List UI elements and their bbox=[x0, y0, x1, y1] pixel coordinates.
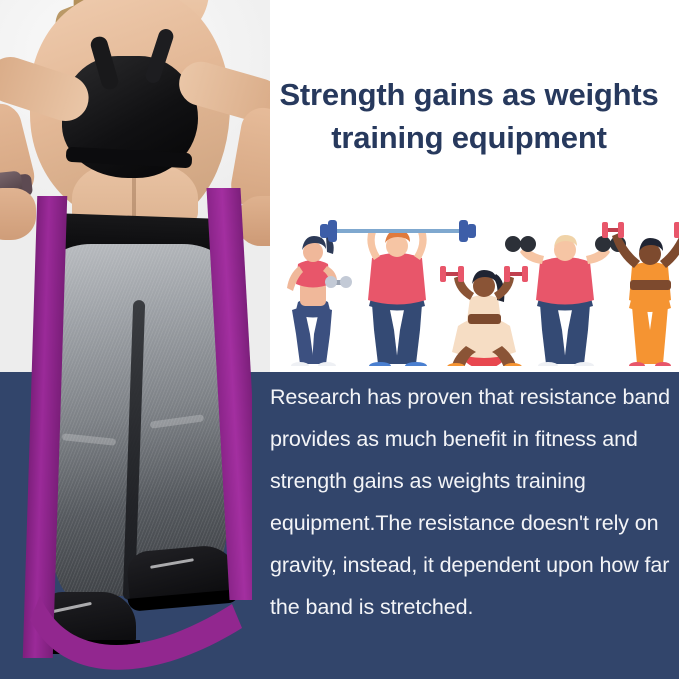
resistance-band-under-foot bbox=[0, 560, 270, 679]
figure-1-woman-dumbbell bbox=[287, 236, 352, 370]
figure-3-woman-exercise-ball bbox=[440, 266, 528, 371]
figure-4-man-dumbbells bbox=[505, 235, 626, 370]
figure-2-man-barbell bbox=[320, 220, 476, 370]
description-text: Research has proven that resistance band… bbox=[270, 376, 674, 628]
page-title: Strength gains as weights training equip… bbox=[262, 74, 676, 160]
exercise-illustration bbox=[270, 214, 679, 372]
dumbbell-small bbox=[325, 276, 352, 288]
hand-left-grip bbox=[0, 188, 36, 240]
description-panel: Research has proven that resistance band… bbox=[252, 372, 679, 679]
hero-photo bbox=[0, 0, 270, 679]
promotional-product-image: Strength gains as weights training equip… bbox=[0, 0, 679, 679]
illustration-figures bbox=[270, 214, 679, 372]
